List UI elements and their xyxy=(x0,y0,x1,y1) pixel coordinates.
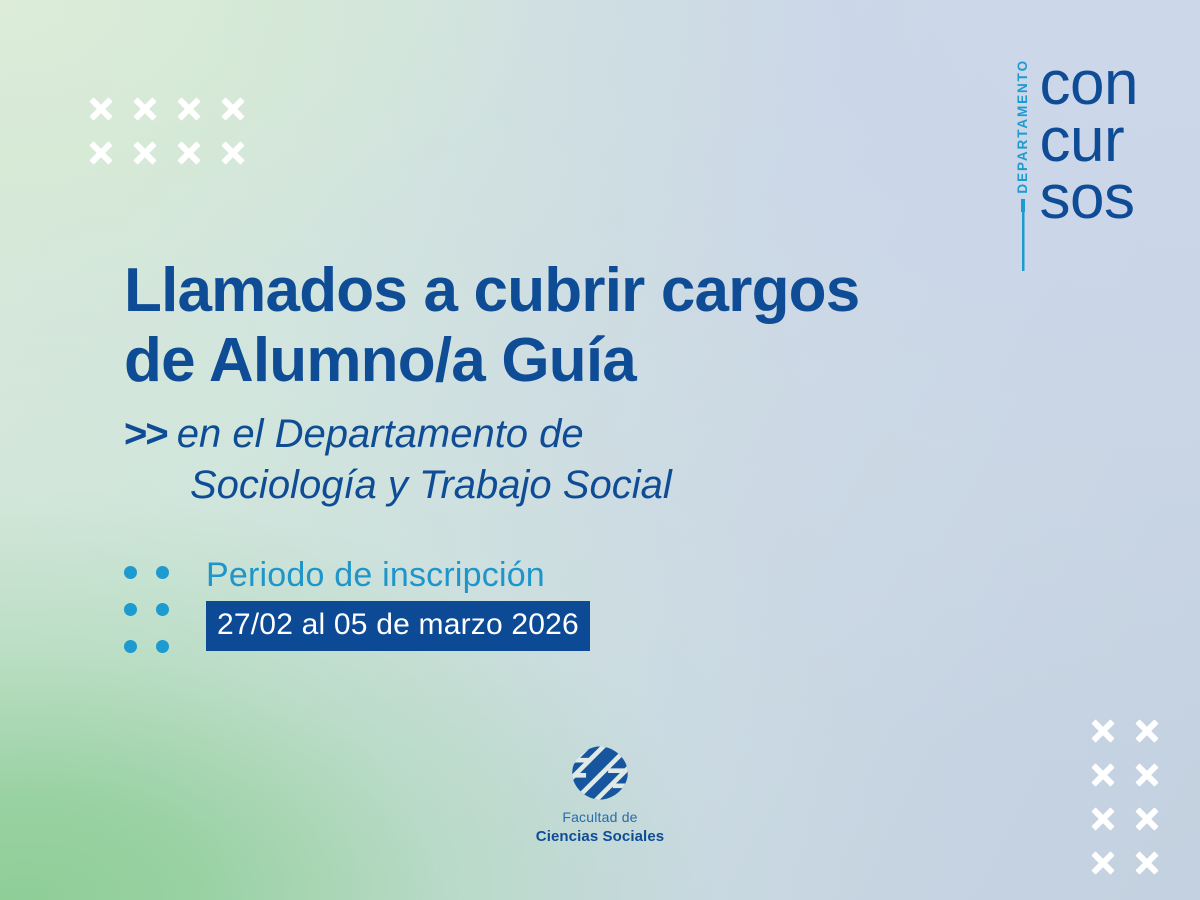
faculty-logo: Facultad de Ciencias Sociales xyxy=(0,745,1200,845)
concursos-word-cur: cur xyxy=(1040,112,1138,169)
page-title-line-2: de Alumno/a Guía xyxy=(124,326,1004,396)
x-pattern-top-left xyxy=(88,96,264,184)
concursos-wordmark: con cur sos xyxy=(1040,55,1138,226)
x-icon xyxy=(1090,850,1116,876)
poster-canvas: DEPARTAMENTO con cur sos Llamados a cubr… xyxy=(0,0,1200,900)
page-subtitle: >>en el Departamento de Sociología y Tra… xyxy=(124,409,924,511)
page-subtitle-line-1: en el Departamento de xyxy=(177,412,584,456)
x-icon xyxy=(132,140,158,166)
vertical-rule-icon xyxy=(1021,199,1025,271)
inscription-text-group: Periodo de inscripción 27/02 al 05 de ma… xyxy=(206,556,590,651)
concursos-lockup: DEPARTAMENTO con cur sos xyxy=(1016,55,1138,271)
x-icon xyxy=(220,140,246,166)
x-icon xyxy=(132,96,158,122)
dot-icon xyxy=(124,603,137,616)
page-subtitle-line-2: Sociología y Trabajo Social xyxy=(124,460,924,511)
dot-icon xyxy=(156,566,169,579)
dot-icon xyxy=(156,603,169,616)
page-title-line-1: Llamados a cubrir cargos xyxy=(124,256,1004,326)
x-icon xyxy=(88,96,114,122)
x-icon xyxy=(220,96,246,122)
x-icon xyxy=(1134,850,1160,876)
x-icon xyxy=(88,140,114,166)
inscription-period-label: Periodo de inscripción xyxy=(206,556,545,595)
page-title: Llamados a cubrir cargos de Alumno/a Guí… xyxy=(124,256,1004,396)
departamento-rail: DEPARTAMENTO xyxy=(1016,55,1030,271)
faculty-emblem-icon xyxy=(571,745,629,801)
inscription-period-block: Periodo de inscripción 27/02 al 05 de ma… xyxy=(124,556,590,677)
faculty-logo-line-2: Ciencias Sociales xyxy=(536,828,664,845)
chevron-double-right-icon: >> xyxy=(124,412,167,456)
dot-pattern xyxy=(124,556,188,677)
x-icon xyxy=(1134,718,1160,744)
dot-icon xyxy=(156,640,169,653)
x-icon xyxy=(176,140,202,166)
x-icon xyxy=(176,96,202,122)
dot-icon xyxy=(124,640,137,653)
faculty-logo-line-1: Facultad de xyxy=(562,809,637,825)
inscription-dates-badge: 27/02 al 05 de marzo 2026 xyxy=(206,601,590,651)
concursos-word-con: con xyxy=(1040,55,1138,112)
departamento-label: DEPARTAMENTO xyxy=(1016,59,1030,194)
concursos-word-sos: sos xyxy=(1040,169,1138,226)
dot-icon xyxy=(124,566,137,579)
x-icon xyxy=(1090,718,1116,744)
